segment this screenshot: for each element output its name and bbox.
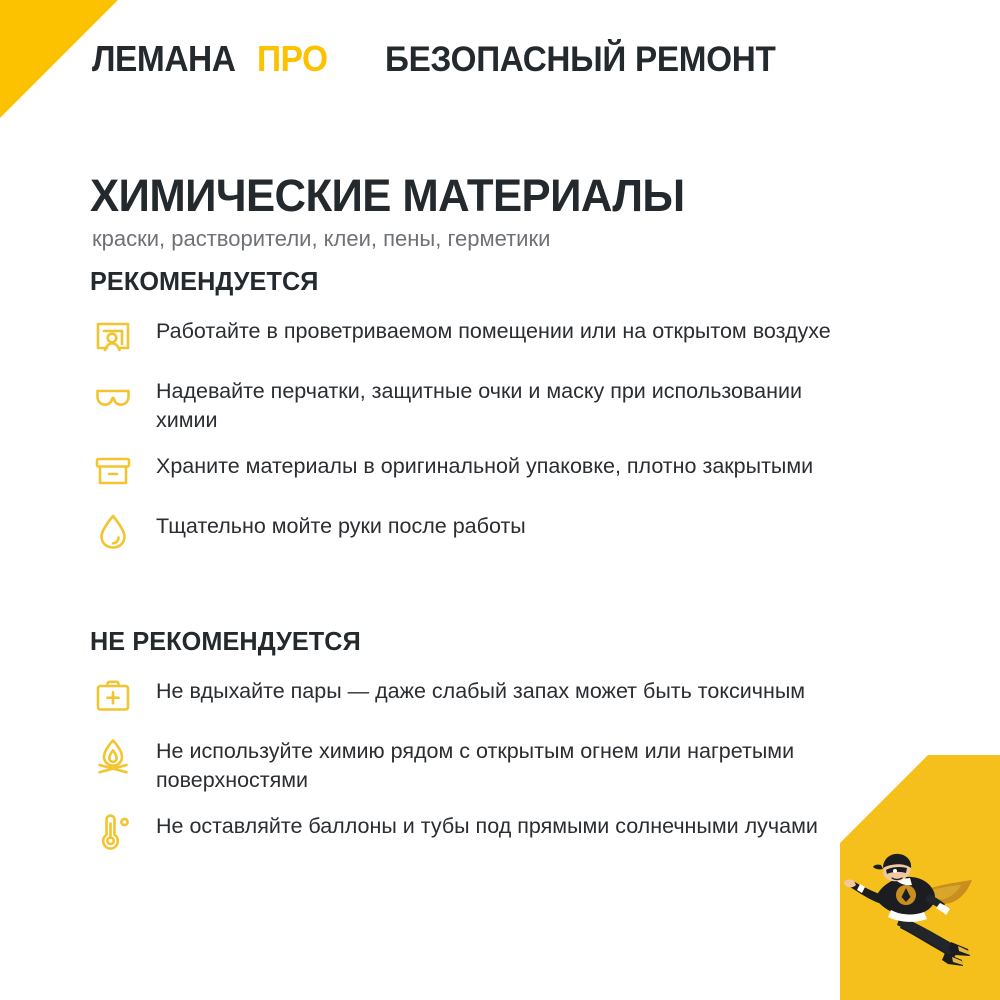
storage-box-icon [90,448,136,494]
thermometer-icon [90,808,136,854]
flying-superhero-mascot [820,832,990,972]
list-item-label: Не вдыхайте пары — даже слабый запах мож… [156,672,805,706]
section-not-recommended: НЕ РЕКОМЕНДУЕТСЯ Не вдыхайте пары — даже… [90,628,900,867]
list-item-label: Не используйте химию рядом с открытым ог… [156,732,856,794]
list-item: Работайте в проветриваемом помещении или… [90,312,900,359]
list-item-label: Работайте в проветриваемом помещении или… [156,312,831,346]
list-item-label: Не оставляйте баллоны и тубы под прямыми… [156,807,818,841]
header-tagline: БЕЗОПАСНЫЙ РЕМОНТ [385,42,776,77]
section-recommended: РЕКОМЕНДУЕТСЯ Работайте в проветриваемом… [90,268,900,567]
safety-goggles-icon [90,373,136,419]
section-heading-not-recommended: НЕ РЕКОМЕНДУЕТСЯ [90,628,876,654]
logo-text-lemana: ЛЕМАНА [92,41,235,77]
list-item: Тщательно мойте руки после работы [90,507,900,554]
list-item: Не оставляйте баллоны и тубы под прямыми… [90,807,900,854]
logo-text-pro: ПРО [257,41,328,77]
poster-header: ЛЕМАНА ПРО БЕЗОПАСНЫЙ РЕМОНТ [0,0,1000,118]
campfire-icon [90,733,136,779]
page-subtitle: краски, растворители, клеи, пены, гермет… [92,225,550,254]
recommended-tip-list: Работайте в проветриваемом помещении или… [90,312,900,554]
list-item-label: Храните материалы в оригинальной упаковк… [156,447,813,481]
infographic-poster: ЛЕМАНА ПРО БЕЗОПАСНЫЙ РЕМОНТ ХИМИЧЕСКИЕ … [0,0,1000,1000]
water-drop-icon [90,508,136,554]
first-aid-kit-icon [90,673,136,719]
list-item: Надевайте перчатки, защитные очки и маск… [90,372,900,434]
section-heading-recommended: РЕКОМЕНДУЕТСЯ [90,268,876,294]
list-item: Не используйте химию рядом с открытым ог… [90,732,900,794]
list-item-label: Надевайте перчатки, защитные очки и маск… [156,372,856,434]
list-item: Не вдыхайте пары — даже слабый запах мож… [90,672,900,719]
page-title: ХИМИЧЕСКИЕ МАТЕРИАЛЫ [90,173,685,218]
not-recommended-tip-list: Не вдыхайте пары — даже слабый запах мож… [90,672,900,854]
lemana-pro-logo: ЛЕМАНА ПРО [92,41,333,77]
list-item: Храните материалы в оригинальной упаковк… [90,447,900,494]
ventilated-room-icon [90,313,136,359]
list-item-label: Тщательно мойте руки после работы [156,507,526,541]
